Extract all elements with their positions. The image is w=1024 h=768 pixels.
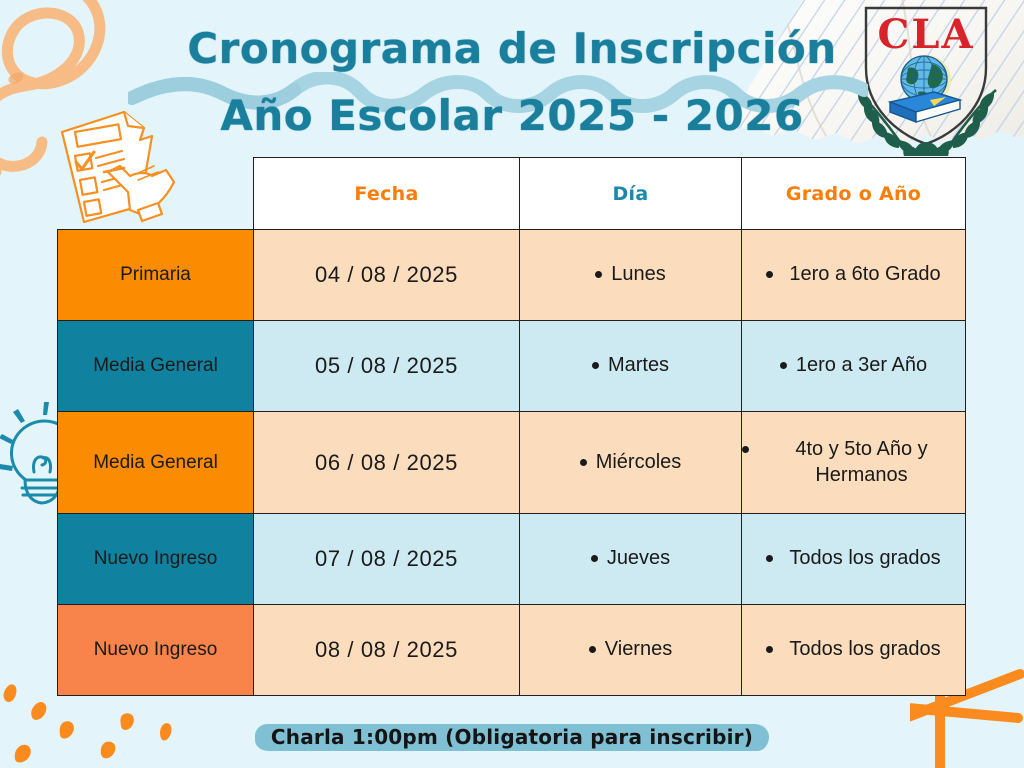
row-day-text: Miércoles: [596, 450, 682, 476]
table-row: Nuevo Ingreso 07 / 08 / 2025 Jueves Todo…: [58, 514, 966, 605]
bullet-dot-icon: [742, 446, 749, 453]
row-date-cell: 07 / 08 / 2025: [254, 514, 520, 605]
row-grade-text: 1ero a 6to Grado: [789, 262, 940, 288]
row-grade-cell: Todos los grados: [742, 605, 966, 696]
title-line-2: Año Escolar 2025 - 2026: [0, 93, 1024, 138]
bullet-dot-icon: [766, 646, 773, 653]
row-day-cell: Lunes: [520, 230, 742, 321]
table-row: Media General 05 / 08 / 2025 Martes 1ero…: [58, 321, 966, 412]
row-day-text: Martes: [608, 353, 669, 379]
row-grade-cell: 4to y 5to Año y Hermanos: [742, 412, 966, 514]
bullet-dot-icon: [780, 362, 787, 369]
bullet-dot-icon: [591, 555, 598, 562]
bullet-dot-icon: [766, 555, 773, 562]
footer-highlight: Charla 1:00pm (Obligatoria para inscribi…: [255, 722, 769, 754]
row-day-text: Viernes: [605, 637, 672, 663]
table-row: Media General 06 / 08 / 2025 Miércoles 4…: [58, 412, 966, 514]
row-date-cell: 08 / 08 / 2025: [254, 605, 520, 696]
row-day-cell: Viernes: [520, 605, 742, 696]
row-grade-cell: Todos los grados: [742, 514, 966, 605]
footer-text: Charla 1:00pm (Obligatoria para inscribi…: [271, 725, 753, 749]
bullet-dot-icon: [592, 362, 599, 369]
poster-title: Cronograma de Inscripción Año Escolar 20…: [0, 26, 1024, 139]
bullet-dot-icon: [595, 271, 602, 278]
row-date-cell: 06 / 08 / 2025: [254, 412, 520, 514]
row-day-cell: Jueves: [520, 514, 742, 605]
row-grade-text: 4to y 5to Año y Hermanos: [758, 437, 965, 488]
row-date-cell: 05 / 08 / 2025: [254, 321, 520, 412]
bullet-dot-icon: [589, 646, 596, 653]
row-grade-cell: 1ero a 6to Grado: [742, 230, 966, 321]
schedule-table: Fecha Día Grado o Año Primaria 04 / 08 /…: [57, 157, 966, 696]
row-category-cell: Primaria: [58, 230, 254, 321]
row-grade-text: Todos los grados: [789, 637, 940, 663]
bullet-dot-icon: [580, 459, 587, 466]
header-cell-fecha: Fecha: [254, 158, 520, 230]
poster-canvas: CLA: [0, 0, 1024, 768]
table-header-row: Fecha Día Grado o Año: [58, 158, 966, 230]
row-grade-cell: 1ero a 3er Año: [742, 321, 966, 412]
row-category-cell: Media General: [58, 412, 254, 514]
header-cell-dia: Día: [520, 158, 742, 230]
row-category-cell: Nuevo Ingreso: [58, 605, 254, 696]
header-cell-grado: Grado o Año: [742, 158, 966, 230]
row-category-cell: Media General: [58, 321, 254, 412]
row-day-text: Lunes: [611, 262, 666, 288]
table-row: Nuevo Ingreso 08 / 08 / 2025 Viernes Tod…: [58, 605, 966, 696]
row-grade-text: Todos los grados: [789, 546, 940, 572]
row-day-text: Jueves: [607, 546, 670, 572]
title-line-1: Cronograma de Inscripción: [0, 26, 1024, 71]
row-grade-text: 1ero a 3er Año: [796, 353, 927, 379]
row-day-cell: Miércoles: [520, 412, 742, 514]
row-category-cell: Nuevo Ingreso: [58, 514, 254, 605]
table-row: Primaria 04 / 08 / 2025 Lunes 1ero a 6to…: [58, 230, 966, 321]
row-day-cell: Martes: [520, 321, 742, 412]
header-cell-blank: [58, 158, 254, 230]
bullet-dot-icon: [766, 271, 773, 278]
row-date-cell: 04 / 08 / 2025: [254, 230, 520, 321]
footer-note: Charla 1:00pm (Obligatoria para inscribi…: [0, 722, 1024, 754]
